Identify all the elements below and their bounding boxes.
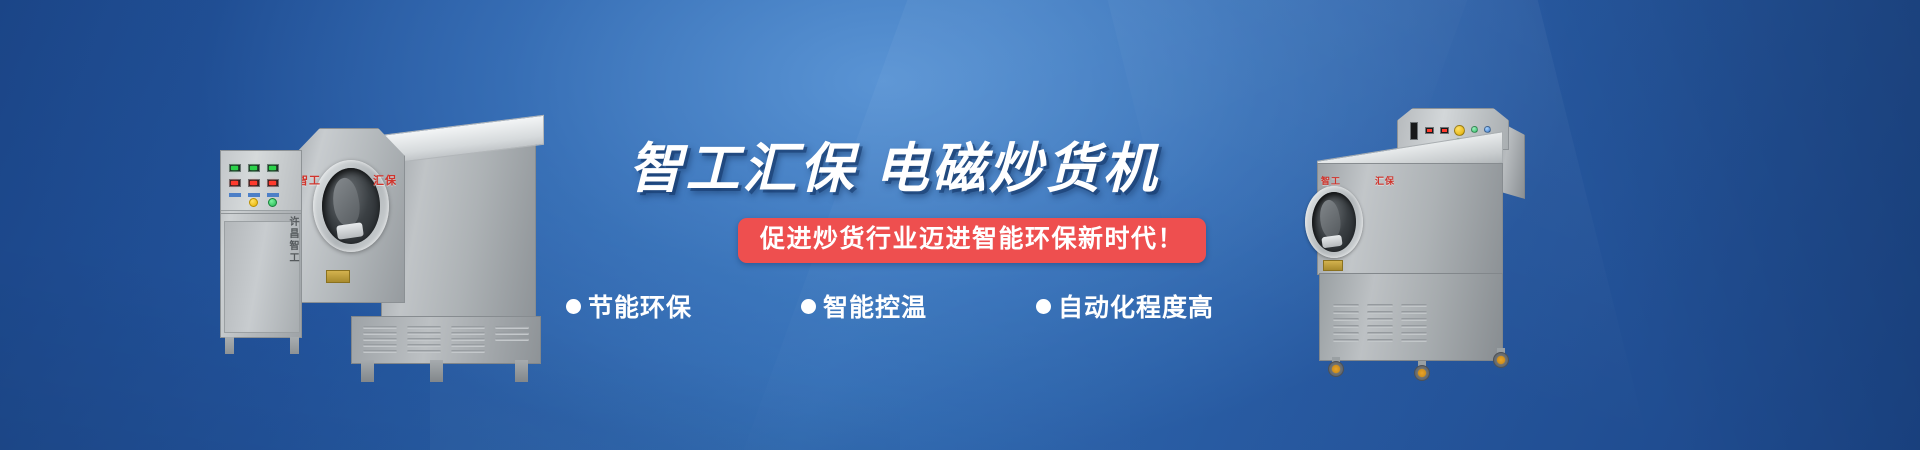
machine-large-nameplate	[326, 270, 350, 283]
machine-large-vent	[363, 350, 397, 353]
machine-small-vent	[1367, 318, 1393, 321]
machine-small-caster-mid	[1414, 361, 1430, 381]
machine-large-foot-right	[515, 360, 528, 382]
machine-small-lower-body	[1319, 273, 1503, 361]
banner-headline: 智工汇保 电磁炒货机	[574, 142, 1214, 196]
machine-small-vent	[1401, 332, 1427, 335]
machine-large-vent	[407, 338, 441, 341]
feature-item-2: 智能控温	[801, 288, 927, 324]
machine-large-display-red-1	[229, 179, 241, 187]
banner-slogan-badge: 促进炒货行业迈进智能环保新时代！	[738, 218, 1206, 263]
filled-circle-bullet-icon	[566, 299, 581, 314]
machine-large-vent	[451, 326, 485, 329]
machine-large-vent	[363, 326, 397, 329]
feature-item-1: 节能环保	[566, 288, 692, 324]
machine-large-vent	[451, 344, 485, 347]
machine-large-display-green-1	[229, 164, 241, 172]
machine-small-nameplate	[1323, 260, 1343, 271]
machine-large-vent	[451, 332, 485, 335]
machine-large-cabinet-vertical-text: 许昌智工	[285, 216, 300, 264]
machine-large-vent	[407, 344, 441, 347]
machine-small-blue-button-1[interactable]	[1484, 126, 1491, 133]
machine-small-brand-left: 智工	[1321, 174, 1341, 187]
machine-small-vent	[1401, 311, 1427, 314]
machine-small-emergency-stop-button[interactable]	[1454, 125, 1465, 136]
machine-small-display-red-1	[1425, 127, 1434, 134]
machine-large-cabinet-seam	[221, 213, 301, 214]
machine-large-foot-mid	[430, 360, 443, 382]
machine-large-brand-right: 汇保	[373, 172, 397, 188]
machine-small-vent	[1401, 339, 1427, 342]
machine-small-display-red-2	[1440, 127, 1449, 134]
machine-large-label-tag	[267, 193, 279, 197]
machine-large-label-tag	[229, 193, 241, 197]
machine-small-vent	[1401, 325, 1427, 328]
machine-large-vent	[363, 344, 397, 347]
machine-small-vent	[1333, 304, 1359, 307]
machine-large-vent	[495, 332, 529, 335]
feature-label-3: 自动化程度高	[1058, 288, 1214, 324]
machine-large-display-red-2	[248, 179, 260, 187]
machine-large-display-green-3	[267, 164, 279, 172]
machine-small-vent	[1401, 304, 1427, 307]
product-image-large-roaster: 智工 汇保 许昌智工	[185, 98, 585, 358]
machine-large-emergency-knob[interactable]	[249, 198, 258, 207]
machine-small-display-vertical	[1410, 122, 1418, 140]
machine-large-display-red-3	[267, 179, 279, 187]
machine-large-label-tag	[248, 193, 260, 197]
caster-wheel	[1414, 365, 1430, 381]
machine-large-vent	[407, 350, 441, 353]
machine-small-vent	[1333, 339, 1359, 342]
banner-feature-list: 节能环保 智能控温 自动化程度高	[560, 288, 1220, 324]
machine-small-caster-right	[1493, 348, 1509, 368]
machine-small-vent	[1367, 325, 1393, 328]
machine-large-cabinet-leg-left	[225, 337, 234, 354]
machine-large-vent	[495, 338, 529, 341]
machine-small-vent	[1367, 304, 1393, 307]
machine-large-vent	[407, 332, 441, 335]
machine-small-vent	[1333, 318, 1359, 321]
machine-large-start-button[interactable]	[268, 198, 277, 207]
machine-small-vent	[1333, 325, 1359, 328]
feature-item-3: 自动化程度高	[1036, 288, 1214, 324]
machine-large-vent	[495, 326, 529, 329]
machine-small-vent	[1333, 311, 1359, 314]
machine-large-vent	[451, 338, 485, 341]
machine-small-vent	[1401, 318, 1427, 321]
machine-small-vent	[1367, 332, 1393, 335]
promo-banner: 智工 汇保 许昌智工 智工汇保 电磁炒货机 促进炒货行业迈进智能环保新时代！	[0, 0, 1920, 450]
machine-small-vent	[1367, 339, 1393, 342]
banner-copy-block: 智工汇保 电磁炒货机 促进炒货行业迈进智能环保新时代！ 节能环保 智能控温 自动…	[560, 110, 1220, 340]
machine-large-vent	[451, 350, 485, 353]
machine-large-display-green-2	[248, 164, 260, 172]
filled-circle-bullet-icon	[1036, 299, 1051, 314]
machine-large-vent	[363, 338, 397, 341]
feature-label-2: 智能控温	[823, 288, 927, 324]
machine-small-caster-left	[1328, 357, 1344, 377]
machine-large-vent	[363, 332, 397, 335]
caster-wheel	[1493, 352, 1509, 368]
machine-small-green-button-1[interactable]	[1471, 126, 1478, 133]
product-image-small-roaster: 智工 汇保	[1295, 108, 1555, 408]
machine-large-foot-left	[361, 360, 374, 382]
feature-label-1: 节能环保	[588, 288, 692, 324]
machine-large-cabinet-leg-right	[290, 337, 299, 354]
filled-circle-bullet-icon	[801, 299, 816, 314]
machine-small-vent	[1367, 311, 1393, 314]
caster-wheel	[1328, 361, 1344, 377]
machine-small-vent	[1333, 332, 1359, 335]
machine-large-vent	[407, 326, 441, 329]
machine-small-brand-right: 汇保	[1375, 174, 1395, 187]
